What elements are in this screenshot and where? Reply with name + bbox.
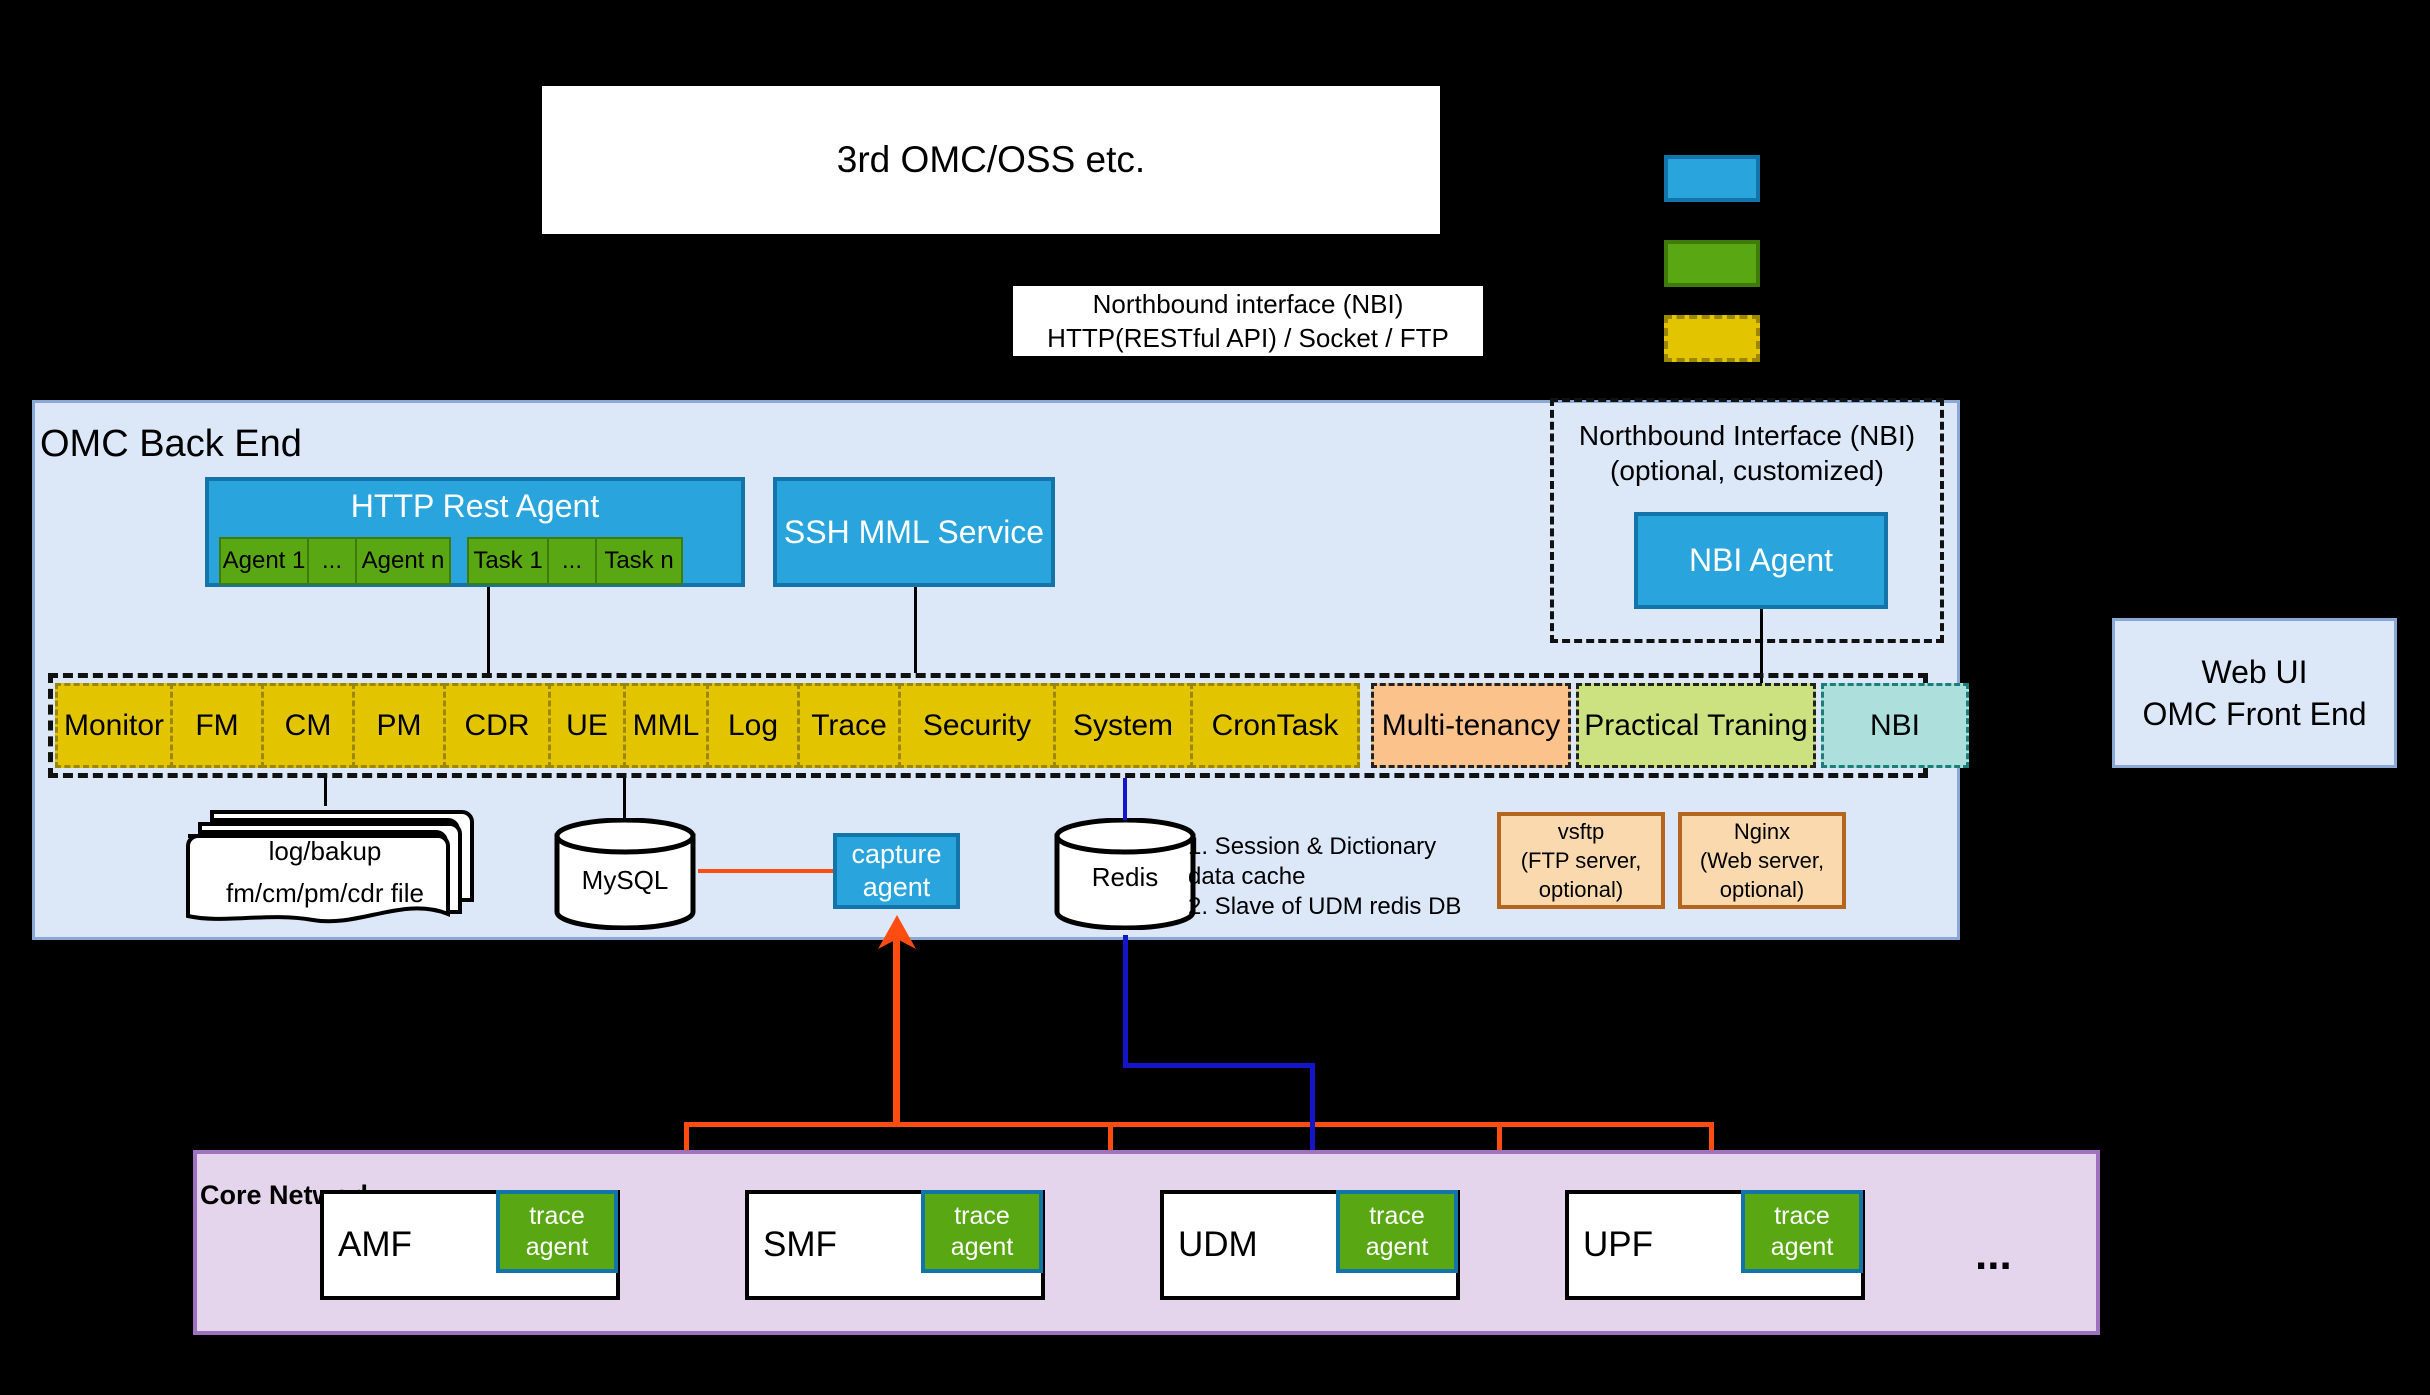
module-mml[interactable]: MML — [623, 683, 709, 768]
module-ue[interactable]: UE — [548, 683, 626, 768]
orange-riser-to-capture-agent — [893, 935, 900, 1125]
module-crontask[interactable]: CronTask — [1190, 683, 1360, 768]
orange-arrowhead-icon — [872, 915, 922, 953]
trace-agent-line2: agent — [1771, 1232, 1834, 1263]
mysql-label: MySQL — [560, 865, 690, 896]
module-system[interactable]: System — [1053, 683, 1193, 768]
legend-green-swatch — [1664, 240, 1760, 287]
log-backup-line2: fm/cm/pm/cdr file — [180, 872, 470, 914]
ssh-mml-service-box[interactable]: SSH MML Service — [773, 477, 1055, 587]
task-group: Task 1 ... Task n — [467, 537, 683, 585]
module-cm[interactable]: CM — [261, 683, 355, 768]
nbi-label-line1: Northbound interface (NBI) — [1093, 287, 1404, 321]
module-multi-tenancy[interactable]: Multi-tenancy — [1371, 683, 1571, 768]
legend-blue-swatch — [1664, 155, 1760, 202]
web-ui-front-end-box[interactable]: Web UI OMC Front End — [2112, 618, 2397, 768]
redis-note-line1: 1. Session & Dictionary — [1188, 832, 1488, 862]
vsftp-line2: (FTP server, — [1521, 846, 1642, 875]
core-network-ellipsis: ... — [1975, 1230, 2012, 1280]
module-trace[interactable]: Trace — [797, 683, 901, 768]
web-ui-line1: Web UI — [2201, 651, 2307, 693]
task-cell[interactable]: Task 1 — [467, 537, 549, 585]
module-monitor[interactable]: Monitor — [55, 683, 173, 768]
capture-agent-line2: agent — [863, 871, 931, 904]
module-security[interactable]: Security — [898, 683, 1056, 768]
nginx-box[interactable]: Nginx (Web server, optional) — [1678, 812, 1846, 909]
third-party-omc-oss-box[interactable]: 3rd OMC/OSS etc. — [541, 85, 1441, 235]
redis-label: Redis — [1060, 862, 1190, 893]
blue-line-seg1 — [1123, 935, 1128, 1067]
trace-agent-box[interactable]: traceagent — [496, 1190, 618, 1273]
connector-sshmml-to-modules — [914, 587, 917, 673]
agent-cell[interactable]: Agent n — [355, 537, 451, 585]
connector-modules-to-mysql — [623, 778, 626, 820]
http-rest-agent-title: HTTP Rest Agent — [209, 488, 741, 525]
module-fm[interactable]: FM — [170, 683, 264, 768]
module-cdr[interactable]: CDR — [443, 683, 551, 768]
web-ui-line2: OMC Front End — [2142, 693, 2366, 735]
nginx-line1: Nginx — [1734, 817, 1790, 846]
nf-node-upf[interactable]: UPFtraceagent — [1565, 1190, 1865, 1300]
redis-note: 1. Session & Dictionary data cache 2. Sl… — [1188, 832, 1488, 922]
trace-agent-box[interactable]: traceagent — [1336, 1190, 1458, 1273]
agent-cell[interactable]: Agent 1 — [219, 537, 309, 585]
trace-agent-line2: agent — [526, 1232, 589, 1263]
nginx-line3: optional) — [1720, 875, 1804, 904]
vsftp-line3: optional) — [1539, 875, 1623, 904]
nbi-region-label: Northbound Interface (NBI) (optional, cu… — [1550, 418, 1944, 488]
redis-note-line3: 2. Slave of UDM redis DB — [1188, 892, 1488, 922]
task-cell[interactable]: Task n — [595, 537, 683, 585]
capture-agent-box[interactable]: capture agent — [833, 833, 960, 909]
module-list: MonitorFMCMPMCDRUEMMLLogTraceSecuritySys… — [55, 683, 1966, 768]
vsftp-box[interactable]: vsftp (FTP server, optional) — [1497, 812, 1665, 909]
nf-node-label: UPF — [1583, 1225, 1653, 1265]
nbi-label-line2: HTTP(RESTful API) / Socket / FTP — [1047, 321, 1449, 355]
redis-note-line2: data cache — [1188, 862, 1488, 892]
connector-httprest-to-modules — [487, 587, 490, 673]
orange-trace-bus — [684, 1122, 1714, 1127]
connector-nbi-to-backend — [991, 356, 994, 404]
diagram-canvas: 3rd OMC/OSS etc. Northbound interface (N… — [0, 0, 2430, 1395]
nbi-region-line1: Northbound Interface (NBI) — [1550, 418, 1944, 453]
log-backup-line1: log/bakup — [180, 830, 470, 872]
nbi-agent-label: NBI Agent — [1689, 542, 1833, 579]
nbi-region-line2: (optional, customized) — [1550, 453, 1944, 488]
trace-agent-line1: trace — [1369, 1201, 1425, 1232]
nf-node-smf[interactable]: SMFtraceagent — [745, 1190, 1045, 1300]
connector-thirdparty-to-nbi — [991, 235, 994, 287]
capture-agent-line1: capture — [851, 838, 941, 871]
module-log[interactable]: Log — [706, 683, 800, 768]
nf-node-label: AMF — [338, 1225, 412, 1265]
trace-agent-line2: agent — [951, 1232, 1014, 1263]
trace-agent-box[interactable]: traceagent — [921, 1190, 1043, 1273]
ssh-mml-label: SSH MML Service — [784, 514, 1044, 551]
omc-back-end-title: OMC Back End — [40, 423, 302, 466]
trace-agent-line1: trace — [1774, 1201, 1830, 1232]
nginx-line2: (Web server, — [1700, 846, 1824, 875]
connector-mysql-to-capture-agent — [698, 869, 835, 873]
nf-node-amf[interactable]: AMFtraceagent — [320, 1190, 620, 1300]
connector-modules-to-logstack — [324, 778, 327, 806]
trace-agent-line1: trace — [529, 1201, 585, 1232]
third-party-label: 3rd OMC/OSS etc. — [837, 139, 1145, 181]
module-nbi[interactable]: NBI — [1821, 683, 1969, 768]
connector-modules-to-redis — [1123, 778, 1127, 820]
trace-agent-line2: agent — [1366, 1232, 1429, 1263]
nf-node-udm[interactable]: UDMtraceagent — [1160, 1190, 1460, 1300]
vsftp-line1: vsftp — [1558, 817, 1604, 846]
module-pm[interactable]: PM — [352, 683, 446, 768]
nbi-agent-box[interactable]: NBI Agent — [1634, 512, 1888, 609]
task-cell-ellipsis: ... — [547, 537, 597, 585]
module-practical-traning[interactable]: Practical Traning — [1576, 683, 1816, 768]
legend-yellow-swatch — [1664, 315, 1760, 362]
blue-line-seg2 — [1123, 1063, 1315, 1068]
nf-node-label: UDM — [1178, 1225, 1258, 1265]
http-rest-agent-box[interactable]: HTTP Rest Agent Agent 1 ... Agent n Task… — [205, 477, 745, 587]
trace-agent-box[interactable]: traceagent — [1741, 1190, 1863, 1273]
trace-agent-line1: trace — [954, 1201, 1010, 1232]
log-backup-text: log/bakup fm/cm/pm/cdr file — [180, 830, 470, 914]
agent-group: Agent 1 ... Agent n — [219, 537, 451, 585]
nbi-interface-label: Northbound interface (NBI) HTTP(RESTful … — [1013, 286, 1483, 356]
nf-node-label: SMF — [763, 1225, 837, 1265]
agent-cell-ellipsis: ... — [307, 537, 357, 585]
